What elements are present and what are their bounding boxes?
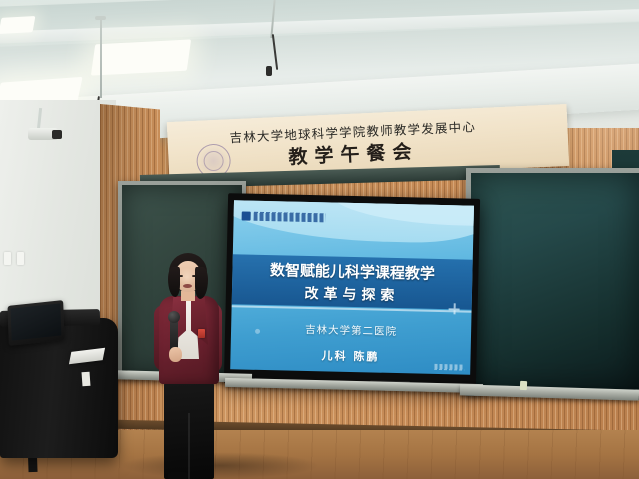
logo-mark-icon xyxy=(242,211,251,220)
slide-institution-logo xyxy=(242,210,326,223)
presenter-mouth xyxy=(183,284,192,288)
slide-subtitle-institution: 吉林大学第二医院 xyxy=(305,322,397,339)
slide-title-line-1: 数智赋能儿科学课程教学 xyxy=(270,259,435,284)
microphone-head-icon xyxy=(168,311,180,323)
camera-lens-icon xyxy=(52,130,62,139)
presenter-trouser-seam xyxy=(188,413,190,479)
presenter-hand xyxy=(169,347,182,362)
slide-subtitle-group: 吉林大学第二医院 儿科 陈鹏 xyxy=(230,320,471,366)
interactive-smart-display[interactable]: 数智赋能儿科学课程教学 改革与探索 吉林大学第二医院 儿科 陈鹏 xyxy=(224,193,480,389)
lecture-hall-scene: 吉林大学地球科学学院教师教学发展中心 教学午餐会 数智赋能儿科学课程教学 改革与… xyxy=(0,0,639,479)
ceiling-rod xyxy=(100,18,102,98)
presenter-hair-strand xyxy=(168,267,180,297)
right-chalkboard xyxy=(466,168,639,396)
hanging-cable xyxy=(272,34,278,70)
plus-decoration-icon xyxy=(448,303,459,314)
presenter-hair-strand xyxy=(195,267,208,299)
chalk-piece-icon[interactable] xyxy=(520,381,527,390)
lectern-monitor-screen[interactable] xyxy=(11,303,62,340)
logo-wordmark xyxy=(254,212,326,223)
wall-light-switch[interactable] xyxy=(17,252,24,265)
slide-title-line-2: 改革与探索 xyxy=(304,282,399,304)
presenter-shoe xyxy=(168,472,188,479)
wall-light-switch[interactable] xyxy=(4,252,11,265)
presenter xyxy=(150,253,228,479)
document-on-lectern xyxy=(82,372,91,387)
recessed-led-panel-icon xyxy=(91,39,191,75)
lectern-monitor[interactable] xyxy=(7,300,64,346)
cable-plug-icon xyxy=(266,66,272,76)
slide-footer-decoration xyxy=(434,364,464,371)
presentation-slide: 数智赋能儿科学课程教学 改革与探索 吉林大学第二医院 儿科 陈鹏 xyxy=(230,200,474,374)
slide-title-band: 数智赋能儿科学课程教学 改革与探索 xyxy=(232,254,473,309)
slide-subtitle-presenter: 儿科 陈鹏 xyxy=(321,347,379,364)
presenter-badge xyxy=(198,329,205,338)
right-chalkboard-surface xyxy=(471,173,639,391)
ceiling-rod-head xyxy=(95,16,106,20)
recessed-led-panel-icon xyxy=(0,16,35,34)
